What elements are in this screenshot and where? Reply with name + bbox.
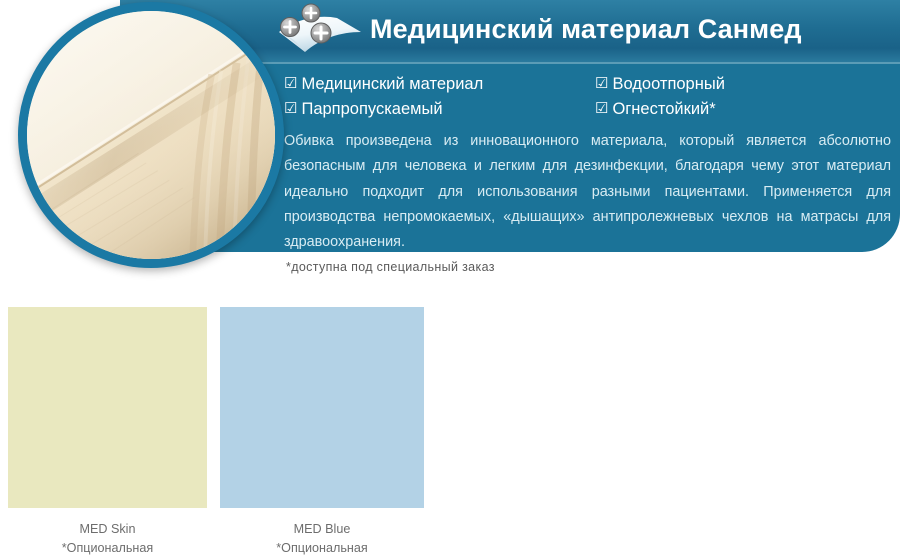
feature-column-right: ☑Водоотпорный ☑Огнестойкий*	[595, 72, 725, 122]
fabric-sheet-with-medical-crosses-icon	[275, 2, 365, 60]
feature-item: ☑Огнестойкий*	[595, 97, 725, 122]
swatch-caption: MED Skin *Опциональная	[8, 520, 207, 558]
feature-item: ☑Медицинский материал	[284, 72, 483, 97]
swatch-chip[interactable]	[8, 307, 207, 508]
color-swatch-row: MED Skin *Опциональная MED Blue *Опциона…	[0, 307, 910, 558]
checkbox-checked-icon: ☑	[595, 96, 608, 121]
feature-item: ☑Водоотпорный	[595, 72, 725, 97]
panel-description-text: Обивка произведена из инновационного мат…	[284, 133, 891, 250]
swatch-note: *Опциональная	[8, 539, 207, 558]
feature-item: ☑Парпропускаемый	[284, 97, 483, 122]
checkbox-checked-icon: ☑	[284, 96, 297, 121]
checkbox-checked-icon: ☑	[284, 71, 297, 96]
feature-item-label: Парпропускаемый	[301, 100, 442, 118]
swatch-name: MED Blue	[220, 520, 424, 539]
feature-item-label: Медицинский материал	[301, 75, 483, 93]
feature-item-label: Водоотпорный	[612, 75, 724, 93]
page-title: Медицинский материал Санмед	[370, 14, 802, 45]
swatch-note: *Опциональная	[220, 539, 424, 558]
swatch-caption: MED Blue *Опциональная	[220, 520, 424, 558]
feature-column-left: ☑Медицинский материал ☑Парпропускаемый	[284, 72, 483, 122]
color-swatch-med-skin[interactable]: MED Skin *Опциональная	[8, 307, 207, 558]
special-order-footnote: *доступна под специальный заказ	[286, 260, 495, 274]
checkbox-checked-icon: ☑	[595, 71, 608, 96]
panel-description: Обивка произведена из инновационного мат…	[284, 129, 891, 252]
fabric-closeup-photo	[18, 2, 284, 268]
feature-item-label: Огнестойкий*	[612, 100, 715, 118]
color-swatch-med-blue[interactable]: MED Blue *Опциональная	[220, 307, 424, 558]
swatch-name: MED Skin	[8, 520, 207, 539]
swatch-chip[interactable]	[220, 307, 424, 508]
